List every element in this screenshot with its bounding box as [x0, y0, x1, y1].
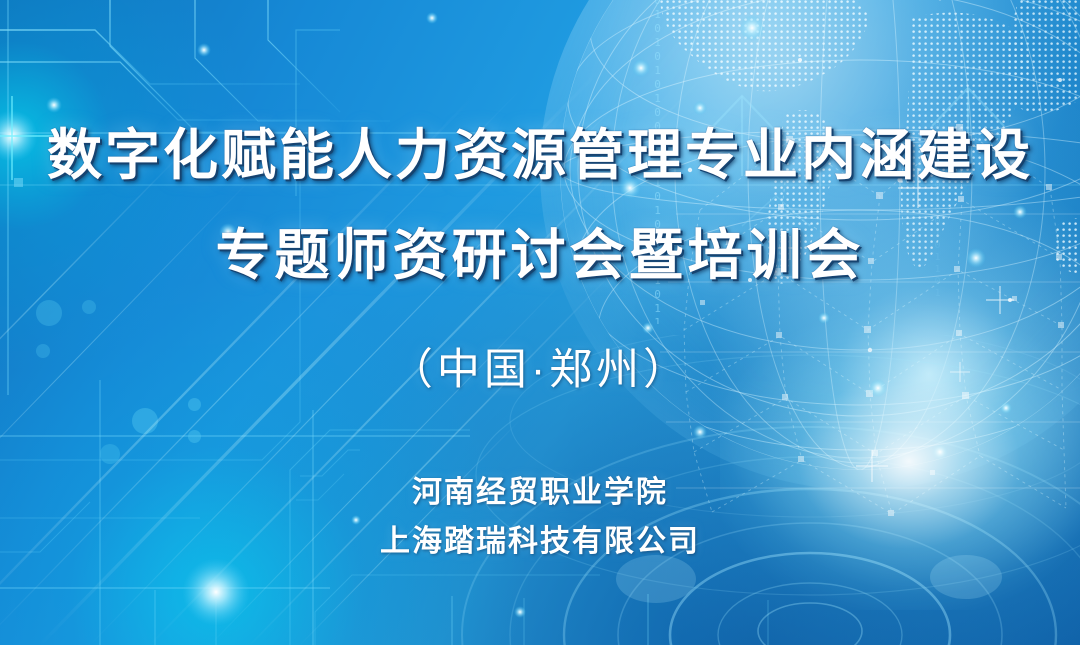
organizer-line-2: 上海踏瑞科技有限公司 — [380, 518, 700, 567]
title-block: 数字化赋能人力资源管理专业内涵建设 专题师资研讨会暨培训会 — [0, 0, 1080, 283]
banner-location-subtitle: （中国·郑州） — [390, 335, 690, 397]
organizer-line-1: 河南经贸职业学院 — [380, 469, 700, 518]
banner-title-line-2: 专题师资研讨会暨培训会 — [0, 228, 1080, 283]
conference-banner: 0101010100101101001010110100101011010010… — [0, 0, 1080, 645]
banner-title-line-1: 数字化赋能人力资源管理专业内涵建设 — [0, 128, 1080, 183]
organizer-list: 河南经贸职业学院 上海踏瑞科技有限公司 — [380, 469, 700, 566]
banner-content: 数字化赋能人力资源管理专业内涵建设 专题师资研讨会暨培训会 （中国·郑州） 河南… — [0, 0, 1080, 645]
